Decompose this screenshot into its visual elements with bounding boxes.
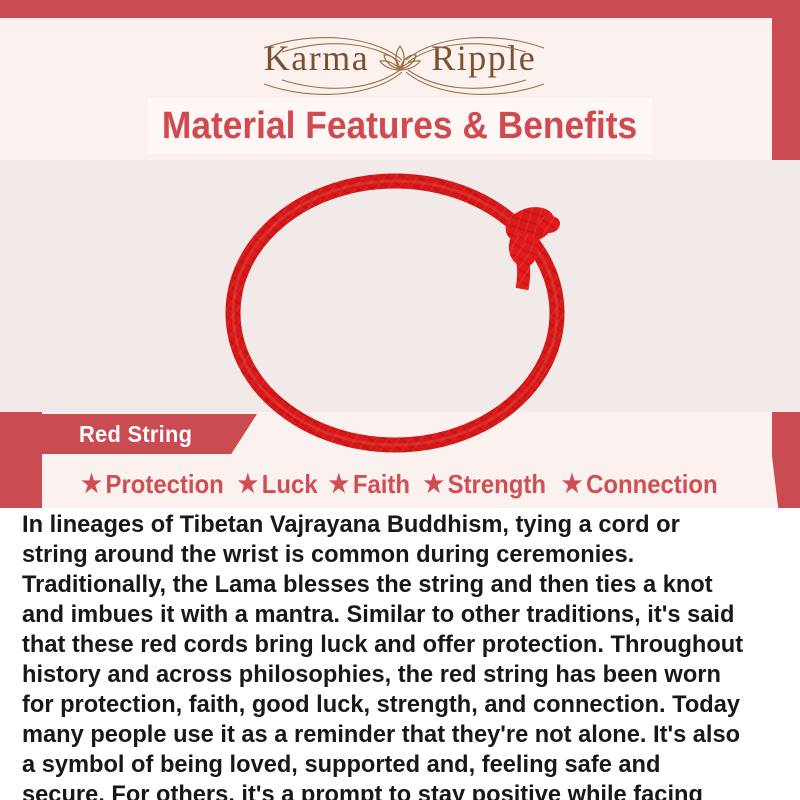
top-red-band	[0, 0, 800, 18]
feature-label: Protection	[106, 469, 224, 500]
page-title: Material Features & Benefits	[162, 105, 637, 148]
lotus-icon	[379, 41, 421, 75]
feature-label: Connection	[586, 469, 718, 500]
star-icon: ★	[238, 472, 259, 497]
ribbon-label-text: Red String	[79, 421, 192, 448]
title-band: Material Features & Benefits	[148, 98, 652, 154]
star-icon: ★	[329, 472, 350, 497]
infographic-page: Karma Ripple Material Features & Benefit…	[0, 0, 800, 800]
feature-label: Faith	[353, 469, 410, 500]
star-icon: ★	[82, 472, 103, 497]
feature-item-connection: ★ Connection	[562, 469, 718, 500]
star-icon: ★	[423, 472, 444, 497]
feature-label: Strength	[448, 469, 546, 500]
feature-item-strength: ★ Strength	[423, 469, 546, 500]
brand-logo: Karma Ripple	[0, 18, 800, 98]
brand-name-right: Ripple	[431, 40, 536, 76]
feature-label: Luck	[262, 469, 318, 500]
brand-name-left: Karma	[264, 40, 369, 76]
product-photo-background	[0, 160, 800, 412]
star-icon: ★	[562, 472, 583, 497]
feature-item-protection: ★ Protection	[82, 469, 225, 500]
feature-item-faith: ★ Faith	[329, 469, 410, 500]
description-panel: In lineages of Tibetan Vajrayana Buddhis…	[0, 508, 800, 800]
product-ribbon-label: Red String	[42, 414, 257, 454]
description-text: In lineages of Tibetan Vajrayana Buddhis…	[22, 510, 748, 800]
feature-list: ★ Protection ★ Luck ★ Faith ★ Strength ★…	[0, 463, 800, 505]
feature-item-luck: ★ Luck	[238, 469, 318, 500]
